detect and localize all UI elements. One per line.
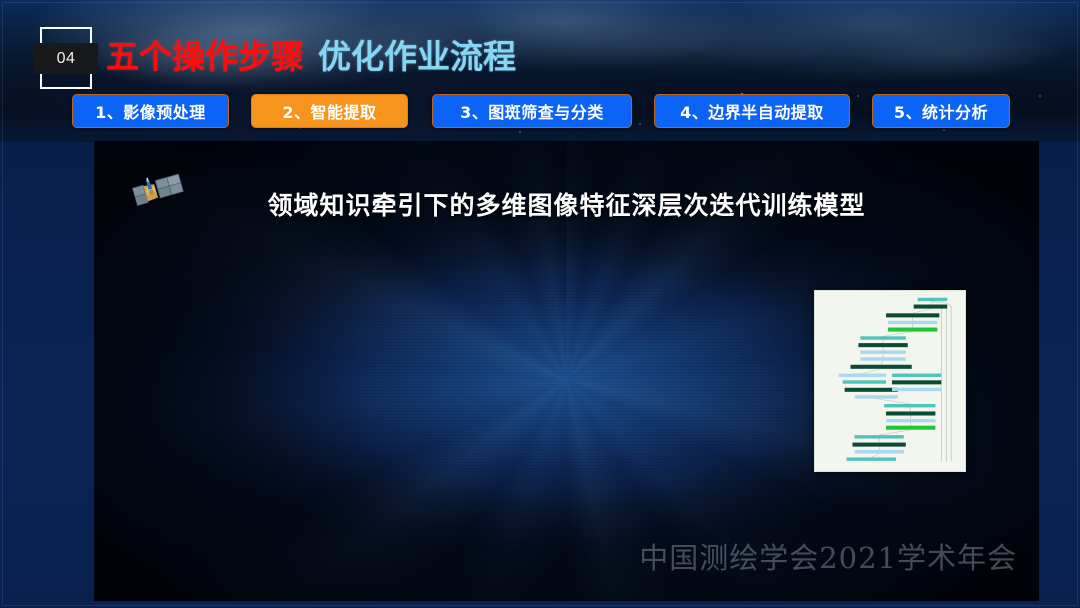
step-chip-4[interactable]: 4、边界半自动提取: [654, 94, 850, 128]
graph-node: [888, 328, 937, 332]
graph-node: [845, 388, 898, 392]
model-architecture-figure[interactable]: [814, 290, 966, 472]
content-panel: 领域知识牵引下的多维图像特征深层次迭代训练模型 中国测绘学会2021学术年会: [94, 141, 1039, 601]
graph-node: [918, 298, 948, 301]
page-title-emphasis: 五个操作步骤: [106, 37, 304, 76]
graph-node: [860, 357, 905, 360]
graph-node: [886, 313, 939, 317]
presentation-slide: 04 五个操作步骤优化作业流程 1、影像预处理2、智能提取3、图斑筛查与分类4、…: [0, 0, 1080, 608]
step-chip-label: 4、边界半自动提取: [680, 99, 824, 123]
graph-node: [854, 450, 903, 453]
graph-node: [847, 457, 896, 460]
graph-node: [860, 336, 905, 339]
graph-node: [839, 374, 886, 377]
graph-node: [884, 404, 935, 407]
step-chip-1[interactable]: 1、影像预处理: [72, 94, 229, 128]
conference-watermark: 中国测绘学会2021学术年会: [639, 535, 1017, 577]
graph-node: [886, 419, 935, 422]
graph-node: [851, 365, 912, 369]
graph-node: [888, 321, 937, 324]
graph-node: [892, 374, 941, 377]
graph-node: [843, 380, 886, 383]
page-title: 五个操作步骤优化作业流程: [106, 36, 516, 77]
graph-node: [892, 388, 941, 391]
graph-node: [892, 380, 941, 384]
graph-node: [854, 395, 897, 398]
graph-node: [858, 343, 907, 347]
chapter-badge: 04: [40, 27, 92, 89]
graph-node: [886, 426, 935, 430]
badge-number: 04: [57, 50, 76, 68]
step-chip-2[interactable]: 2、智能提取: [251, 94, 408, 128]
step-chip-label: 5、统计分析: [894, 99, 988, 123]
step-chip-3[interactable]: 3、图斑筛查与分类: [432, 94, 632, 128]
page-title-subject: 优化作业流程: [318, 37, 516, 76]
graph-node: [860, 351, 905, 354]
graph-node: [854, 435, 903, 438]
graph-node: [914, 305, 948, 309]
step-chip-label: 1、影像预处理: [95, 99, 206, 123]
graph-node: [853, 443, 906, 447]
step-chip-label: 3、图斑筛查与分类: [460, 99, 604, 123]
content-heading: 领域知识牵引下的多维图像特征深层次迭代训练模型: [94, 186, 1039, 222]
graph-node: [886, 411, 935, 415]
step-chip-label: 2、智能提取: [282, 99, 376, 123]
step-navigation: 1、影像预处理2、智能提取3、图斑筛查与分类4、边界半自动提取5、统计分析: [0, 94, 1080, 128]
badge-chip: 04: [34, 43, 98, 74]
step-chip-5[interactable]: 5、统计分析: [872, 94, 1010, 128]
